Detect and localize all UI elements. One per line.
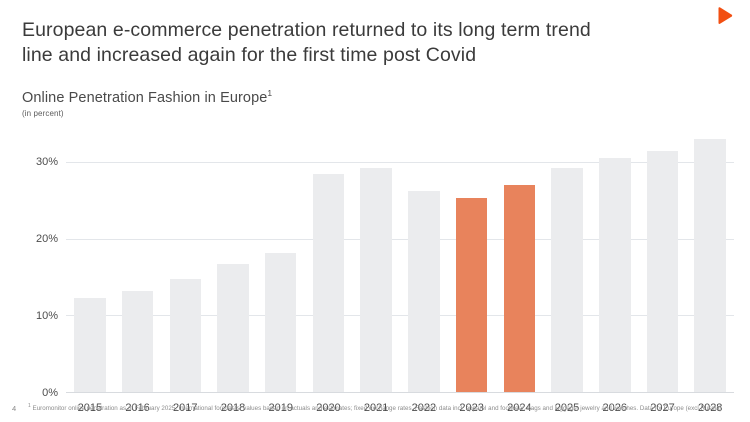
bar-2024[interactable] [504,185,535,392]
bar-slot-2022 [400,124,448,392]
bar-2022[interactable] [408,191,439,392]
y-axis-tick-label: 10% [36,310,58,322]
bar-slot-2020 [305,124,353,392]
bar-2020[interactable] [313,174,344,392]
bar-slot-2028 [686,124,734,392]
bar-slot-2026 [591,124,639,392]
y-axis-tick-label: 30% [36,156,58,168]
play-triangle-logo-icon [717,7,733,25]
footnote: 1 Euromonitor online penetration as of F… [28,404,722,413]
bar-2017[interactable] [170,279,201,392]
bar-slot-2023 [448,124,496,392]
header: European e-commerce penetration returned… [22,18,682,68]
bar-2016[interactable] [122,291,153,392]
bar-2027[interactable] [647,151,678,392]
bar-slot-2025 [543,124,591,392]
plot-area: 0%10%20%30% [66,124,734,392]
y-axis-tick-label: 20% [36,233,58,245]
gridline: 0% [66,392,734,393]
chart-title: Online Penetration Fashion in Europe1 [22,90,736,107]
footnote-text: Euromonitor online penetration as of Feb… [31,405,722,412]
bar-slot-2018 [209,124,257,392]
bar-slot-2016 [114,124,162,392]
chart-subtitle: (in percent) [22,109,736,118]
bar-2015[interactable] [74,298,105,392]
page-title: European e-commerce penetration returned… [22,18,682,68]
plot-wrapper: 0%10%20%30% 2015201620172018201920202021… [22,124,736,420]
y-axis-tick-label: 0% [42,387,58,399]
bar-2021[interactable] [360,168,391,392]
bar-slot-2017 [161,124,209,392]
bar-2023[interactable] [456,198,487,392]
bar-2028[interactable] [694,139,725,392]
footer: 4 1 Euromonitor online penetration as of… [12,404,742,413]
bar-slot-2019 [257,124,305,392]
page-number: 4 [12,404,28,413]
bar-slot-2024 [495,124,543,392]
bar-2019[interactable] [265,253,296,392]
bar-group [66,124,734,392]
brand-logo [717,7,733,25]
chart-title-footnote-marker: 1 [267,88,272,98]
bar-slot-2015 [66,124,114,392]
bar-slot-2021 [352,124,400,392]
bar-slot-2027 [639,124,687,392]
chart-title-text: Online Penetration Fashion in Europe [22,90,267,106]
bar-2025[interactable] [551,168,582,392]
bar-2018[interactable] [217,264,248,392]
chart-container: Online Penetration Fashion in Europe1 (i… [22,90,736,422]
bar-2026[interactable] [599,158,630,392]
